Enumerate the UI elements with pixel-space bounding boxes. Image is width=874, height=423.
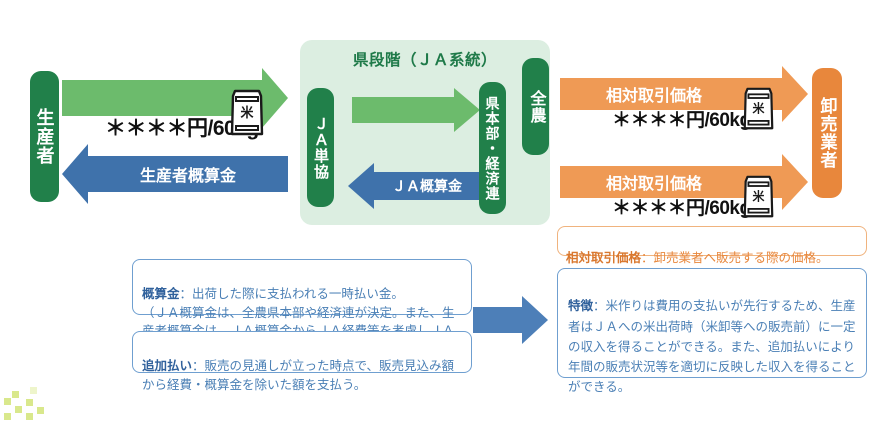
diagram-canvas: 県段階（ＪＡ系統） ＊＊＊＊円/60kg 米 生産者概算金 ＪＡ概算金 相対取引…: [0, 0, 874, 423]
note-negotiated-price-body: ：卸売業者へ販売する際の価格。: [641, 251, 829, 265]
note-advance-payment-term: 概算金: [142, 287, 180, 301]
arrow-shaft: [352, 97, 454, 123]
arrow-notes-to-feature: [473, 307, 548, 333]
note-negotiated-price: 相対取引価格：卸売業者へ販売する際の価格。: [557, 226, 867, 256]
arrow-ja-advance: ＪＡ概算金: [348, 172, 480, 200]
note-advance-payment: 概算金：出荷した際に支払われる一時払い金。 （ＪＡ概算金は、全農県本部や経済連が…: [132, 259, 472, 315]
rice-bag-icon: 米: [742, 86, 775, 137]
note-negotiated-price-term: 相対取引価格: [566, 251, 641, 265]
arrow-shaft: [374, 172, 480, 200]
arrow-shaft: [88, 156, 288, 192]
arrow-head: [522, 296, 548, 344]
rice-bag-icon: 米: [229, 88, 265, 143]
svg-text:米: 米: [752, 190, 766, 204]
negotiated-price-value-1: ＊＊＊＊円/60kg: [612, 105, 751, 132]
note-feature: 特徴：米作りは費用の支払いが先行するため、生産者はＪＡへの米出荷時（米卸等への販…: [557, 268, 867, 378]
rice-bag-glyph: 米: [229, 88, 265, 138]
decorative-dot: [26, 399, 33, 406]
decorative-dot: [30, 387, 37, 394]
panel-title: 県段階（ＪＡ系統）: [300, 48, 550, 70]
arrow-head: [782, 154, 808, 210]
arrow-head: [262, 68, 288, 128]
arrow-head: [454, 88, 480, 132]
arrow-head: [782, 66, 808, 122]
arrow-shaft: [473, 307, 522, 333]
note-additional-payment: 追加払い：販売の見通しが立った時点で、販売見込み額から経費・概算金を除いた額を支…: [132, 331, 472, 373]
svg-text:米: 米: [752, 102, 766, 116]
actor-producer: 生産者: [30, 71, 59, 202]
svg-text:米: 米: [240, 105, 254, 121]
decorative-dot: [26, 413, 33, 420]
arrow-ja-to-prefectural-hq: [352, 97, 480, 123]
decorative-dot: [4, 398, 11, 405]
note-feature-body: ：米作りは費用の支払いが先行するため、生産者はＪＡへの米出荷時（米卸等への販売前…: [568, 299, 856, 394]
actor-prefectural-hq: 県本部・経済連: [479, 82, 506, 214]
note-additional-payment-term: 追加払い: [142, 359, 192, 373]
decorative-dot: [12, 391, 19, 398]
arrow-producer-advance: 生産者概算金: [62, 156, 288, 192]
note-feature-term: 特徴: [568, 299, 593, 313]
rice-bag-glyph: 米: [742, 86, 775, 132]
rice-bag-glyph: 米: [742, 174, 775, 220]
actor-ja-unit: ＪＡ単協: [307, 88, 334, 207]
decorative-dot: [15, 406, 22, 413]
arrow-head: [62, 144, 88, 204]
negotiated-price-value-2: ＊＊＊＊円/60kg: [612, 193, 751, 220]
actor-wholesaler: 卸売業者: [812, 68, 842, 198]
actor-zennoh: 全農: [522, 58, 549, 155]
decorative-dot: [37, 407, 44, 414]
rice-bag-icon: 米: [742, 174, 775, 225]
arrow-head: [348, 163, 374, 209]
decorative-dot: [4, 413, 11, 420]
